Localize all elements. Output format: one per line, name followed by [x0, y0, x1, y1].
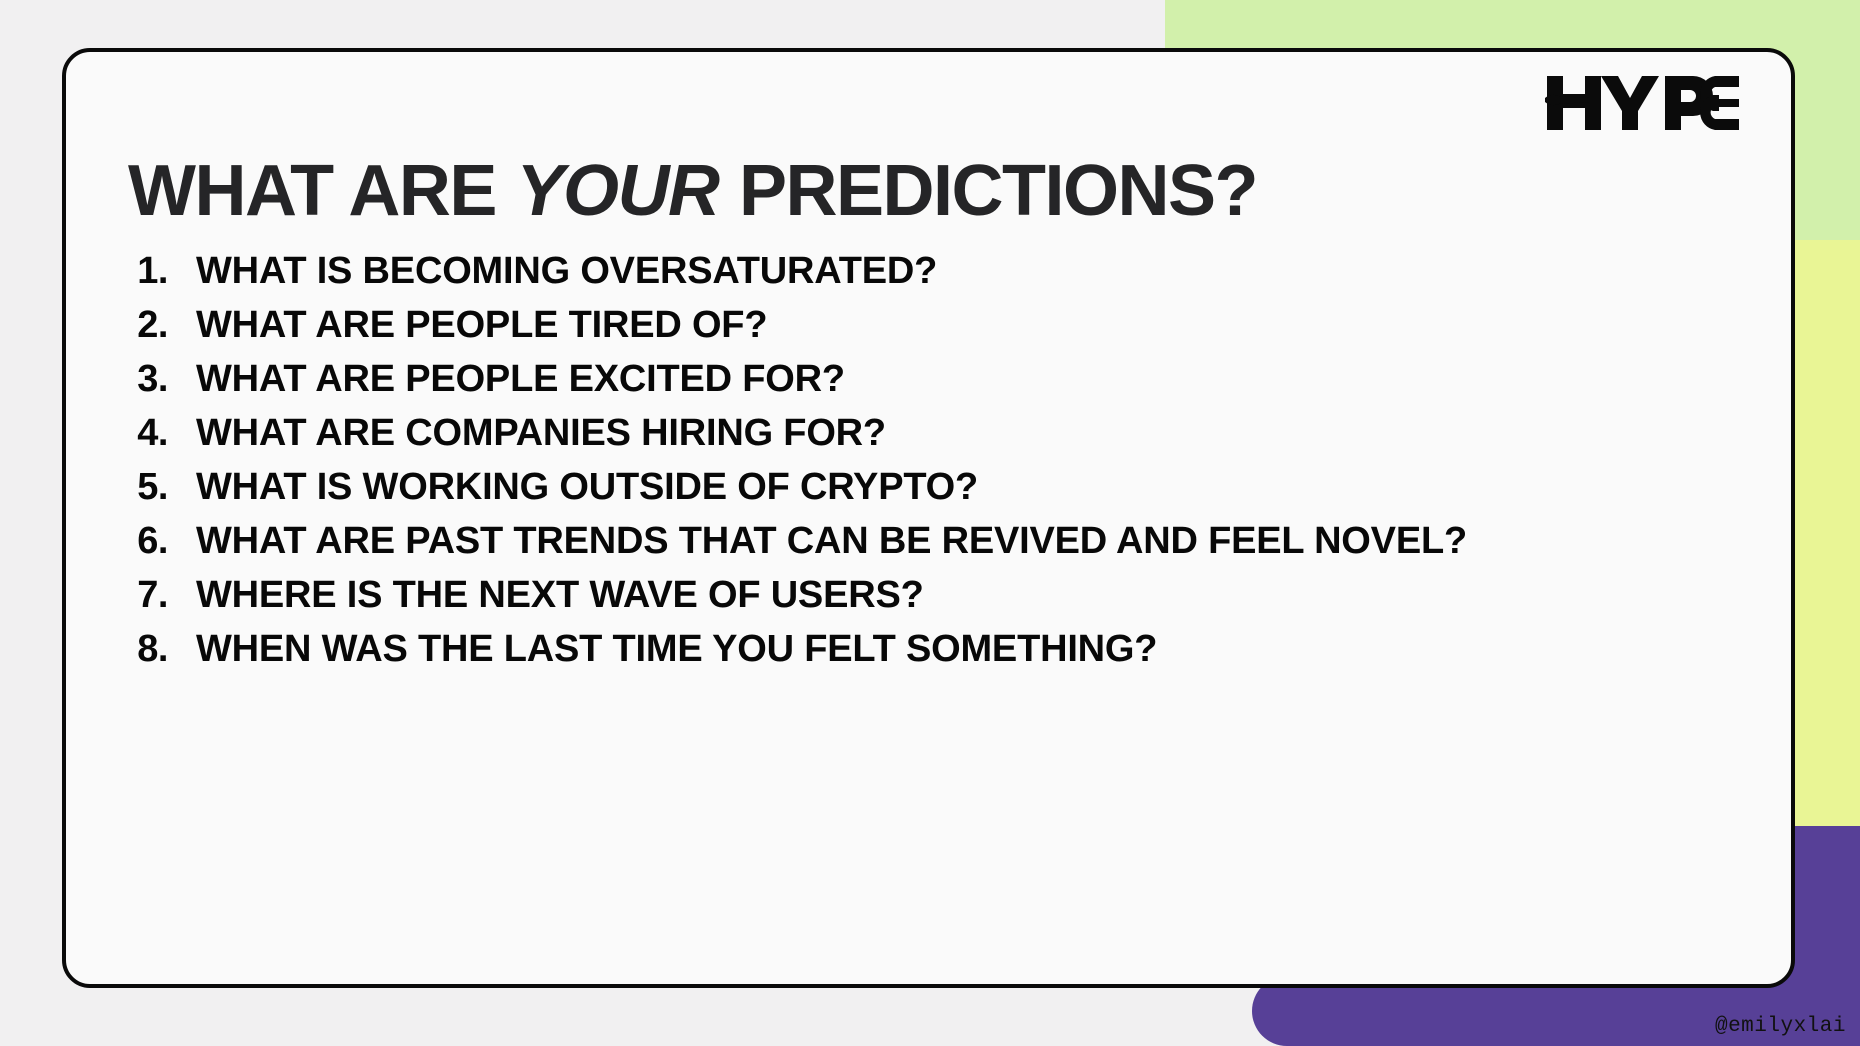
page-title: WHAT ARE YOUR PREDICTIONS?	[128, 155, 1257, 227]
list-item-number: 1.	[104, 250, 168, 293]
list-item-label: WHERE IS THE NEXT WAVE OF USERS?	[196, 574, 924, 617]
slide-header: WHAT ARE YOUR PREDICTIONS?	[66, 52, 1791, 212]
list-item: 4. WHAT ARE COMPANIES HIRING FOR?	[104, 412, 1761, 466]
list-item-label: WHEN WAS THE LAST TIME YOU FELT SOMETHIN…	[196, 628, 1157, 671]
list-item-number: 2.	[104, 304, 168, 347]
list-item: 1. WHAT IS BECOMING OVERSATURATED?	[104, 250, 1761, 304]
list-item: 8. WHEN WAS THE LAST TIME YOU FELT SOMET…	[104, 628, 1761, 682]
list-item: 2. WHAT ARE PEOPLE TIRED OF?	[104, 304, 1761, 358]
list-item: 3. WHAT ARE PEOPLE EXCITED FOR?	[104, 358, 1761, 412]
list-item-number: 3.	[104, 358, 168, 401]
watermark-handle: @emilyxlai	[1715, 1015, 1846, 1038]
list-item-label: WHAT IS BECOMING OVERSATURATED?	[196, 250, 937, 293]
list-item-number: 4.	[104, 412, 168, 455]
list-item: 7. WHERE IS THE NEXT WAVE OF USERS?	[104, 574, 1761, 628]
hype-logo	[1543, 72, 1743, 134]
question-list: 1. WHAT IS BECOMING OVERSATURATED? 2. WH…	[104, 250, 1761, 682]
page-title-tail: PREDICTIONS?	[720, 151, 1257, 231]
list-item-label: WHAT IS WORKING OUTSIDE OF CRYPTO?	[196, 466, 978, 509]
slide-card: WHAT ARE YOUR PREDICTIONS?	[62, 48, 1795, 988]
list-item-number: 8.	[104, 628, 168, 671]
list-item-number: 6.	[104, 520, 168, 563]
list-item-label: WHAT ARE PEOPLE EXCITED FOR?	[196, 358, 845, 401]
list-item-label: WHAT ARE PAST TRENDS THAT CAN BE REVIVED…	[196, 520, 1467, 563]
page-title-emphasis: YOUR	[514, 151, 720, 231]
list-item: 5. WHAT IS WORKING OUTSIDE OF CRYPTO?	[104, 466, 1761, 520]
page-title-lead: WHAT ARE	[128, 151, 514, 231]
list-item-number: 7.	[104, 574, 168, 617]
list-item-label: WHAT ARE COMPANIES HIRING FOR?	[196, 412, 886, 455]
list-item: 6. WHAT ARE PAST TRENDS THAT CAN BE REVI…	[104, 520, 1761, 574]
list-item-label: WHAT ARE PEOPLE TIRED OF?	[196, 304, 767, 347]
list-item-number: 5.	[104, 466, 168, 509]
